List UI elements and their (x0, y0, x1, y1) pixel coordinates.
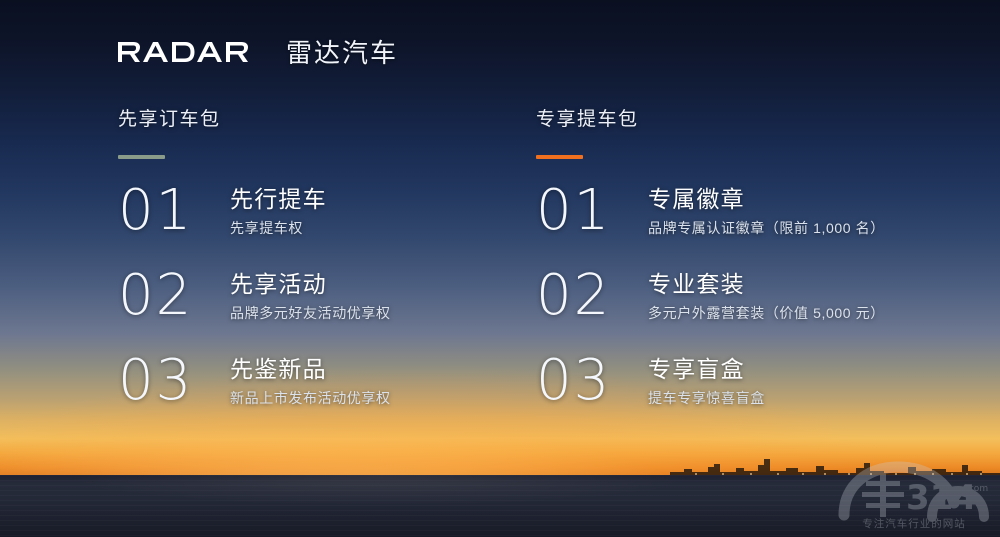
package-column-right: 专享提车包 01 专属徽章 品牌专属认证徽章（限前 1,000 名） 02 专业… (536, 104, 956, 435)
item-number: 03 (118, 350, 230, 412)
item-subtitle: 新品上市发布活动优享权 (230, 388, 391, 408)
column-title-left: 先享订车包 (118, 104, 538, 131)
radar-wordmark-icon (118, 40, 268, 64)
item-number: 01 (118, 180, 230, 242)
slide-canvas: 雷达汽车 先享订车包 01 先行提车 先享提车权 02 先享活动 品 (0, 0, 1000, 537)
item-text-block: 专属徽章 品牌专属认证徽章（限前 1,000 名） (648, 180, 885, 238)
list-item: 02 先享活动 品牌多元好友活动优享权 (118, 265, 538, 350)
item-subtitle: 品牌多元好友活动优享权 (230, 303, 391, 323)
item-text-block: 先行提车 先享提车权 (230, 180, 327, 238)
package-column-left: 先享订车包 01 先行提车 先享提车权 02 先享活动 品牌多元好友活动优享权 (118, 104, 538, 435)
benefit-list-left: 01 先行提车 先享提车权 02 先享活动 品牌多元好友活动优享权 03 (118, 180, 538, 435)
item-title: 先行提车 (230, 184, 327, 214)
item-title: 先享活动 (230, 269, 391, 299)
accent-bar-right (536, 155, 583, 159)
slide-content: 雷达汽车 先享订车包 01 先行提车 先享提车权 02 先享活动 品 (0, 0, 1000, 537)
accent-bar-left (118, 155, 165, 159)
item-text-block: 先享活动 品牌多元好友活动优享权 (230, 265, 391, 323)
site-watermark: 314 .com 专注汽车行业的网站 (836, 459, 992, 533)
item-number: 03 (536, 350, 648, 412)
column-title-right: 专享提车包 (536, 104, 956, 131)
list-item: 02 专业套装 多元户外露营套装（价值 5,000 元） (536, 265, 956, 350)
item-text-block: 专业套装 多元户外露营套装（价值 5,000 元） (648, 265, 885, 323)
item-number: 02 (118, 265, 230, 327)
item-subtitle: 提车专享惊喜盲盒 (648, 388, 765, 408)
item-subtitle: 品牌专属认证徽章（限前 1,000 名） (648, 218, 885, 238)
che314-watermark-icon: 314 .com (836, 459, 992, 533)
item-text-block: 专享盲盒 提车专享惊喜盲盒 (648, 350, 765, 408)
list-item: 03 先鉴新品 新品上市发布活动优享权 (118, 350, 538, 435)
item-title: 先鉴新品 (230, 354, 391, 384)
svg-text:314: 314 (906, 478, 977, 518)
item-subtitle: 多元户外露营套装（价值 5,000 元） (648, 303, 885, 323)
item-title: 专享盲盒 (648, 354, 765, 384)
item-subtitle: 先享提车权 (230, 218, 327, 238)
brand-lockup: 雷达汽车 (118, 33, 398, 70)
svg-text:.com: .com (966, 484, 988, 494)
list-item: 01 专属徽章 品牌专属认证徽章（限前 1,000 名） (536, 180, 956, 265)
list-item: 03 专享盲盒 提车专享惊喜盲盒 (536, 350, 956, 435)
benefit-list-right: 01 专属徽章 品牌专属认证徽章（限前 1,000 名） 02 专业套装 多元户… (536, 180, 956, 435)
list-item: 01 先行提车 先享提车权 (118, 180, 538, 265)
item-number: 02 (536, 265, 648, 327)
item-title: 专属徽章 (648, 184, 885, 214)
item-text-block: 先鉴新品 新品上市发布活动优享权 (230, 350, 391, 408)
watermark-tagline: 专注汽车行业的网站 (836, 516, 992, 531)
item-title: 专业套装 (648, 269, 885, 299)
item-number: 01 (536, 180, 648, 242)
brand-chinese-name: 雷达汽车 (286, 33, 398, 70)
